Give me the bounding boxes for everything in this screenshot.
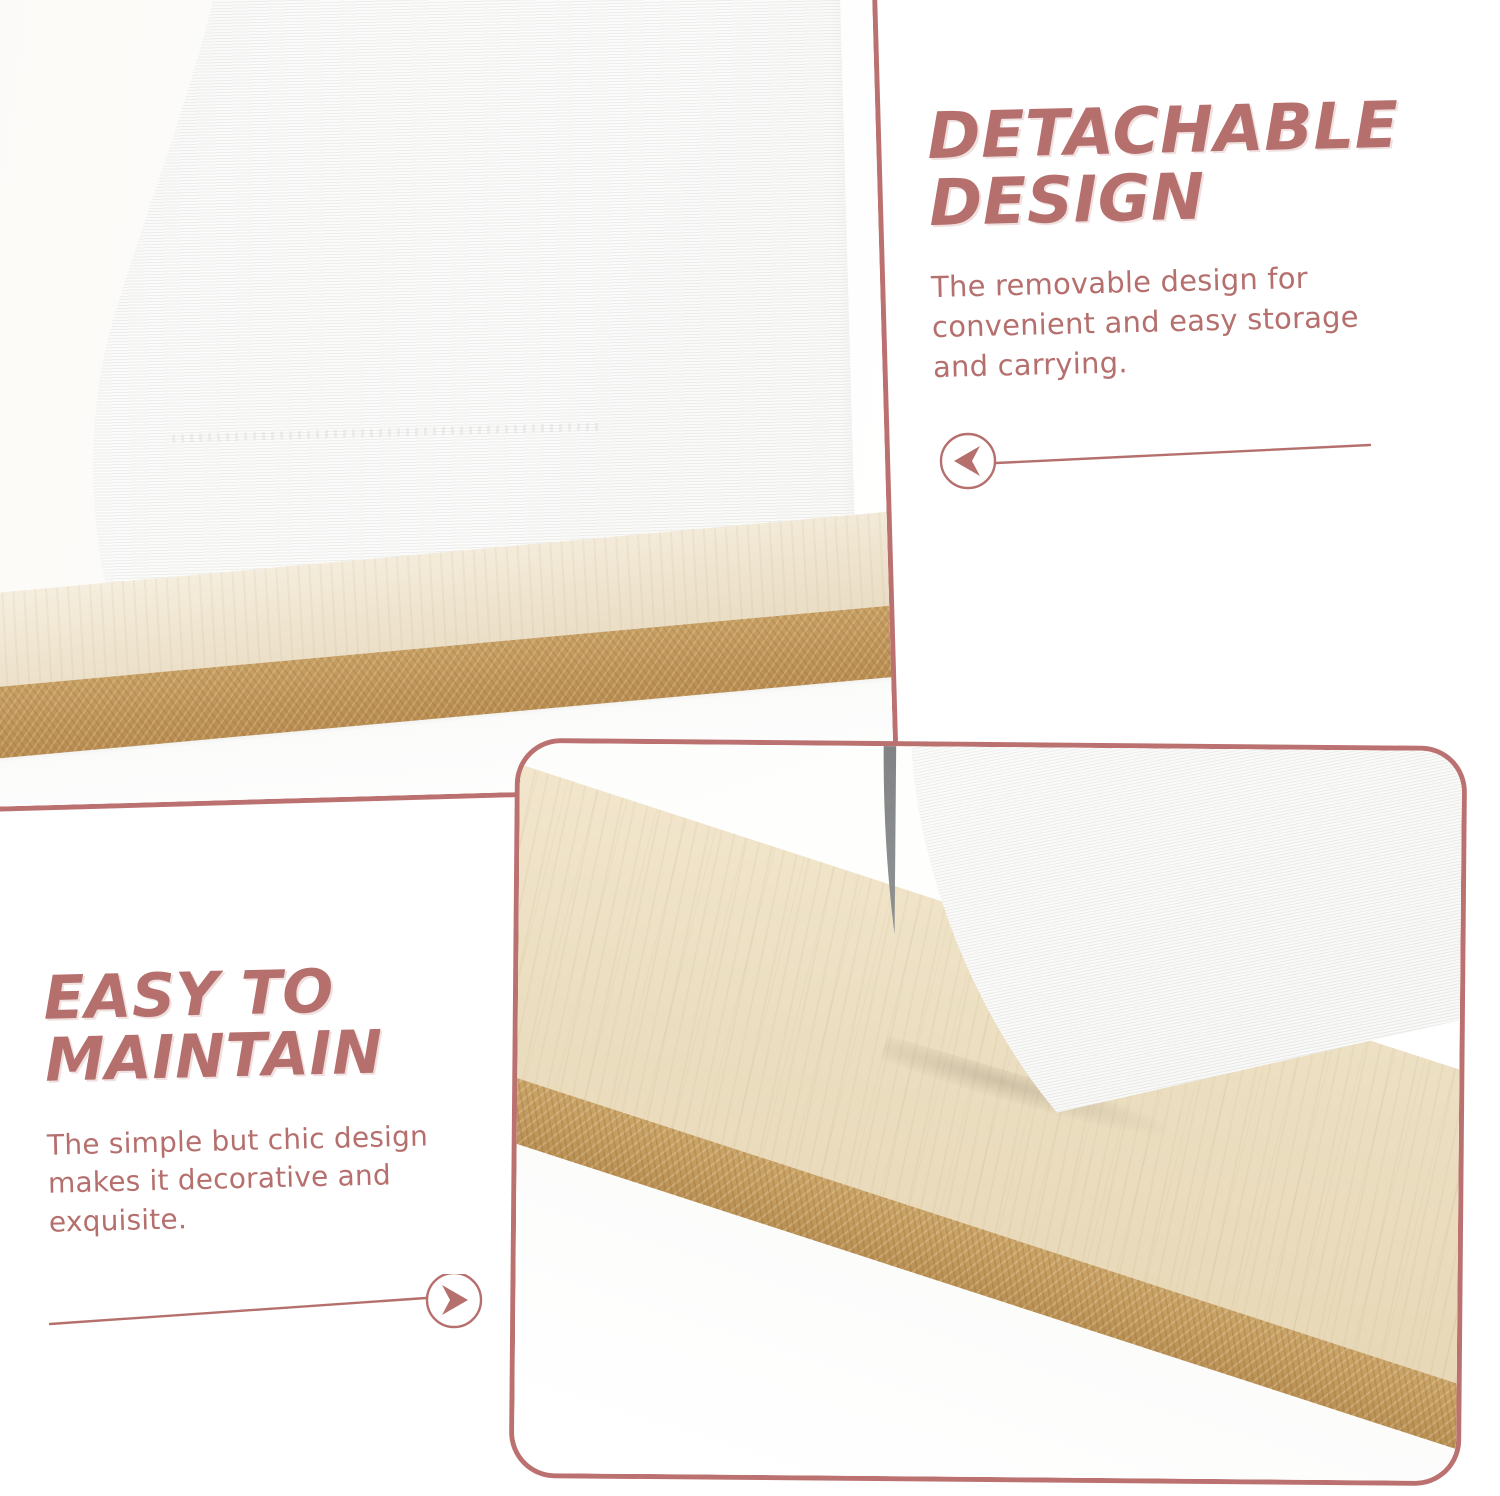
arrow-head-left — [954, 446, 980, 476]
divider-line — [996, 445, 1370, 463]
photo-maintain — [514, 743, 1462, 1481]
photo-detachable — [0, 0, 894, 809]
arrow-right-circle-icon — [42, 1274, 484, 1340]
feature-body-maintain: The simple but chic design makes it deco… — [47, 1115, 520, 1242]
arrow-left-circle-icon — [938, 428, 1374, 490]
feature-headline-detachable: DETACHABLE DESIGN — [927, 92, 1430, 237]
board-emboss-marking — [172, 423, 602, 443]
feature-text-maintain: EASY TO MAINTAIN The simple but chic des… — [43, 956, 520, 1242]
divider-line — [50, 1298, 426, 1324]
photo-panel-detachable — [0, 0, 899, 815]
feature-text-detachable: DETACHABLE DESIGN The removable design f… — [927, 92, 1434, 387]
feature-body-detachable: The removable design for convenient and … — [931, 255, 1434, 387]
arrow-head-right — [442, 1285, 468, 1315]
photo-panel-maintain — [509, 738, 1467, 1486]
product-feature-collage: DETACHABLE DESIGN The removable design f… — [0, 0, 1500, 1496]
feature-headline-maintain: EASY TO MAINTAIN — [43, 956, 516, 1092]
